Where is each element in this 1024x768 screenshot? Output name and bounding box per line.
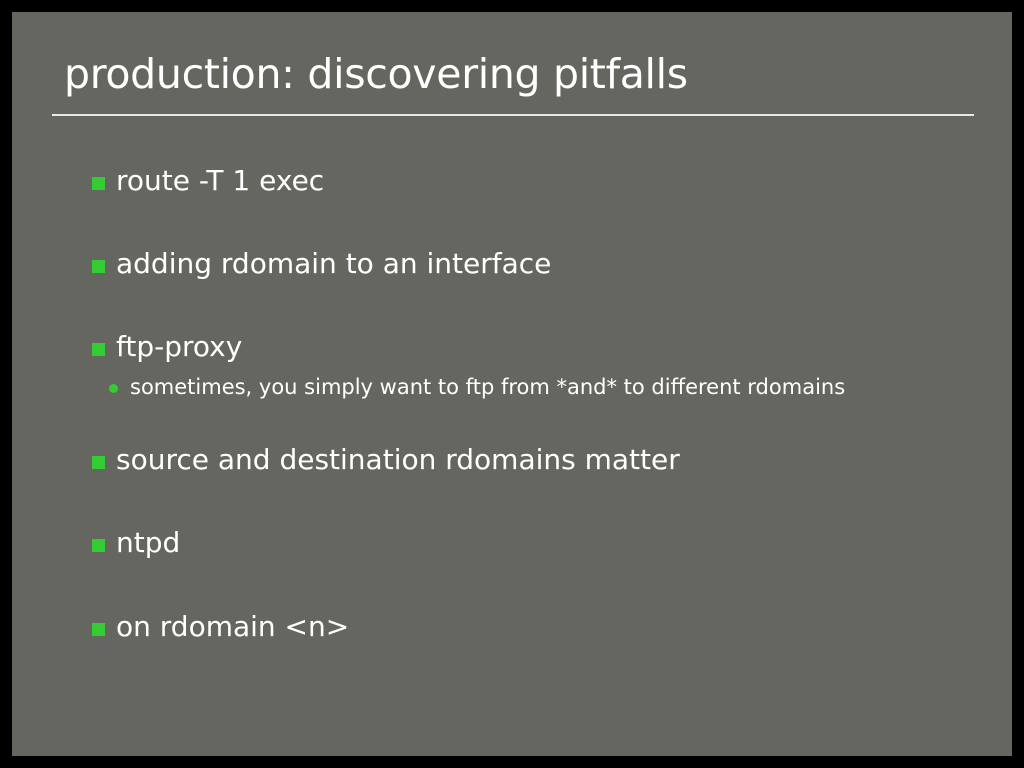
bullet-text: source and destination rdomains matter xyxy=(116,443,680,476)
square-bullet-icon xyxy=(92,177,105,190)
square-bullet-icon xyxy=(92,343,105,356)
bullet-item: route -T 1 exec xyxy=(80,164,980,197)
bullet-item: ftp-proxy xyxy=(80,330,980,363)
bullet-item: adding rdomain to an interface xyxy=(80,247,980,280)
sub-bullet-item: sometimes, you simply want to ftp from *… xyxy=(90,373,980,401)
bullet-text: ftp-proxy xyxy=(116,330,242,363)
square-bullet-icon xyxy=(92,260,105,273)
bullet-text: route -T 1 exec xyxy=(116,164,324,197)
square-bullet-icon xyxy=(92,623,105,636)
square-bullet-icon xyxy=(92,539,105,552)
bullet-text: adding rdomain to an interface xyxy=(116,247,551,280)
round-bullet-icon xyxy=(109,384,118,393)
square-bullet-icon xyxy=(92,456,105,469)
bullet-item: on rdomain <n> xyxy=(80,610,980,643)
title-divider xyxy=(52,114,974,116)
sub-bullet-group: sometimes, you simply want to ftp from *… xyxy=(80,373,980,401)
slide-body: route -T 1 exec adding rdomain to an int… xyxy=(80,164,980,643)
bullet-item: source and destination rdomains matter xyxy=(80,443,980,476)
bullet-text: ntpd xyxy=(116,526,180,559)
slide-canvas: production: discovering pitfalls route -… xyxy=(12,12,1012,756)
bullet-item: ntpd xyxy=(80,526,980,559)
slide-title: production: discovering pitfalls xyxy=(64,50,980,98)
sub-bullet-text: sometimes, you simply want to ftp from *… xyxy=(130,373,860,401)
bullet-text: on rdomain <n> xyxy=(116,610,349,643)
